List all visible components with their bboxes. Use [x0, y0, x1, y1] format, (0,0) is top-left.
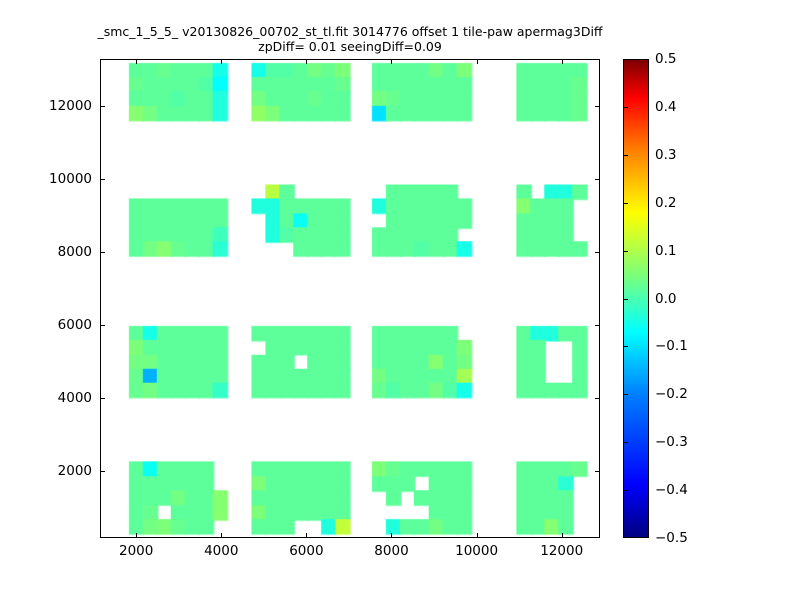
figure-subtitle: zpDiff= 0.01 seeingDiff=0.09	[0, 39, 700, 54]
y-ticklabel: 6000	[20, 317, 92, 333]
x-tick-4000	[221, 533, 222, 537]
x-tick-12000	[562, 60, 563, 64]
y-tick-2000	[101, 471, 105, 472]
x-tick-2000	[136, 60, 137, 64]
x-ticklabel: 10000	[455, 543, 498, 559]
x-tick-8000	[391, 533, 392, 537]
x-tick-12000	[562, 533, 563, 537]
page-title: _smc_1_5_5_ v20130826_00702_st_tl.fit 30…	[0, 24, 700, 39]
y-ticklabel: 10000	[20, 171, 92, 187]
x-tick-10000	[477, 533, 478, 537]
x-ticklabel: 12000	[540, 543, 583, 559]
colorbar-ticklabel: −0.3	[655, 434, 688, 450]
y-tick-2000	[595, 471, 599, 472]
colorbar-ticklabel: −0.1	[655, 338, 688, 354]
colorbar-tick	[624, 155, 628, 156]
y-tick-10000	[101, 179, 105, 180]
colorbar-ticklabel: 0.3	[655, 147, 676, 163]
colorbar-tick	[624, 346, 628, 347]
x-tick-8000	[391, 60, 392, 64]
x-ticklabel: 4000	[204, 543, 238, 559]
colorbar-tick	[624, 394, 628, 395]
y-tick-8000	[101, 252, 105, 253]
y-tick-12000	[595, 106, 599, 107]
colorbar-ticklabel: 0.5	[655, 51, 676, 67]
y-tick-6000	[595, 325, 599, 326]
x-tick-10000	[477, 60, 478, 64]
heatmap-canvas	[101, 60, 599, 537]
colorbar-tick	[624, 490, 628, 491]
x-ticklabel: 8000	[374, 543, 408, 559]
x-ticklabel: 6000	[289, 543, 323, 559]
x-ticklabel: 2000	[119, 543, 153, 559]
y-tick-8000	[595, 252, 599, 253]
y-ticklabel: 8000	[20, 244, 92, 260]
y-ticklabel: 12000	[20, 98, 92, 114]
y-tick-4000	[101, 398, 105, 399]
colorbar-tick	[624, 442, 628, 443]
y-tick-10000	[595, 179, 599, 180]
plot-axes	[100, 59, 600, 538]
colorbar-ticklabel: 0.2	[655, 195, 676, 211]
colorbar-ticklabel: 0.0	[655, 291, 676, 307]
colorbar-tick	[624, 107, 628, 108]
y-ticklabel: 4000	[20, 390, 92, 406]
colorbar-ticklabel: −0.2	[655, 386, 688, 402]
y-ticklabel: 2000	[20, 463, 92, 479]
colorbar-tick	[624, 299, 628, 300]
y-tick-12000	[101, 106, 105, 107]
figure-title-block: _smc_1_5_5_ v20130826_00702_st_tl.fit 30…	[0, 24, 700, 54]
figure-canvas: _smc_1_5_5_ v20130826_00702_st_tl.fit 30…	[0, 0, 800, 600]
colorbar-ticklabel: 0.4	[655, 99, 676, 115]
colorbar-ticklabel: 0.1	[655, 243, 676, 259]
x-tick-6000	[306, 533, 307, 537]
colorbar-ticklabel: −0.4	[655, 482, 688, 498]
x-tick-2000	[136, 533, 137, 537]
colorbar-ticklabel: −0.5	[655, 530, 688, 546]
y-tick-4000	[595, 398, 599, 399]
x-tick-6000	[306, 60, 307, 64]
colorbar-tick	[624, 251, 628, 252]
colorbar-tick	[624, 203, 628, 204]
y-tick-6000	[101, 325, 105, 326]
x-tick-4000	[221, 60, 222, 64]
